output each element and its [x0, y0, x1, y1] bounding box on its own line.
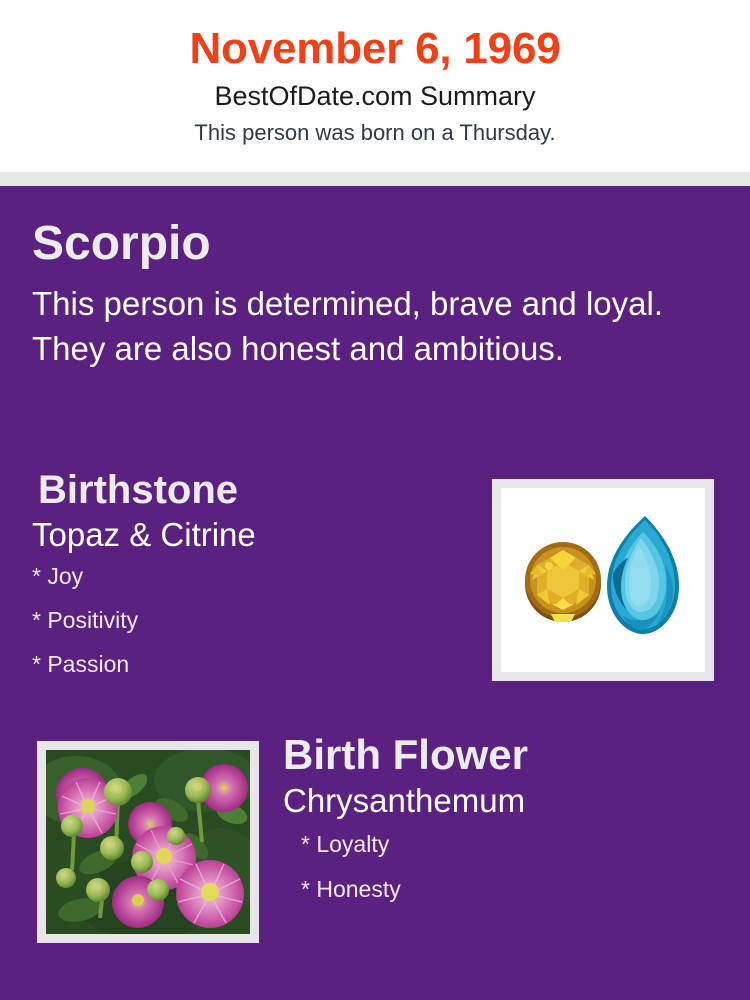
birth-flower-text-block: Birth Flower Chrysanthemum * Loyalty * H…	[283, 734, 743, 923]
date-summary-page: November 6, 1969 BestOfDate.com Summary …	[0, 0, 750, 1000]
birth-flower-trait-list: * Loyalty * Honesty	[283, 819, 743, 923]
birth-flower-heading: Birth Flower	[283, 734, 743, 776]
page-title-date: November 6, 1969	[0, 0, 750, 72]
zodiac-sign-name: Scorpio	[32, 220, 702, 268]
list-item: * Passion	[32, 653, 472, 697]
birthstone-text-block: Birthstone Topaz & Citrine * Joy * Posit…	[32, 470, 472, 697]
main-panel: Scorpio This person is determined, brave…	[0, 186, 750, 1000]
birth-flower-name: Chrysanthemum	[283, 776, 743, 819]
zodiac-description: This person is determined, brave and loy…	[32, 268, 692, 371]
zodiac-section: Scorpio This person is determined, brave…	[32, 220, 702, 371]
birthstone-photo	[501, 488, 705, 672]
list-item: * Positivity	[32, 609, 472, 653]
birthstone-stone-names: Topaz & Citrine	[32, 510, 472, 553]
birthstone-trait-list: * Joy * Positivity * Passion	[32, 553, 472, 697]
site-summary-subtitle: BestOfDate.com Summary	[0, 72, 750, 110]
page-header: November 6, 1969 BestOfDate.com Summary …	[0, 0, 750, 172]
birthstone-heading: Birthstone	[32, 470, 472, 510]
list-item: * Loyalty	[301, 833, 743, 878]
birth-flower-photo	[46, 750, 250, 934]
chrysanthemum-illustration-icon	[46, 750, 250, 934]
born-day-line: This person was born on a Thursday.	[0, 111, 750, 144]
list-item: * Joy	[32, 565, 472, 609]
gemstones-illustration-icon	[501, 488, 705, 672]
list-item: * Honesty	[301, 878, 743, 923]
header-divider	[0, 172, 750, 186]
birth-flower-photo-frame	[37, 741, 259, 943]
birthstone-photo-frame	[492, 479, 714, 681]
